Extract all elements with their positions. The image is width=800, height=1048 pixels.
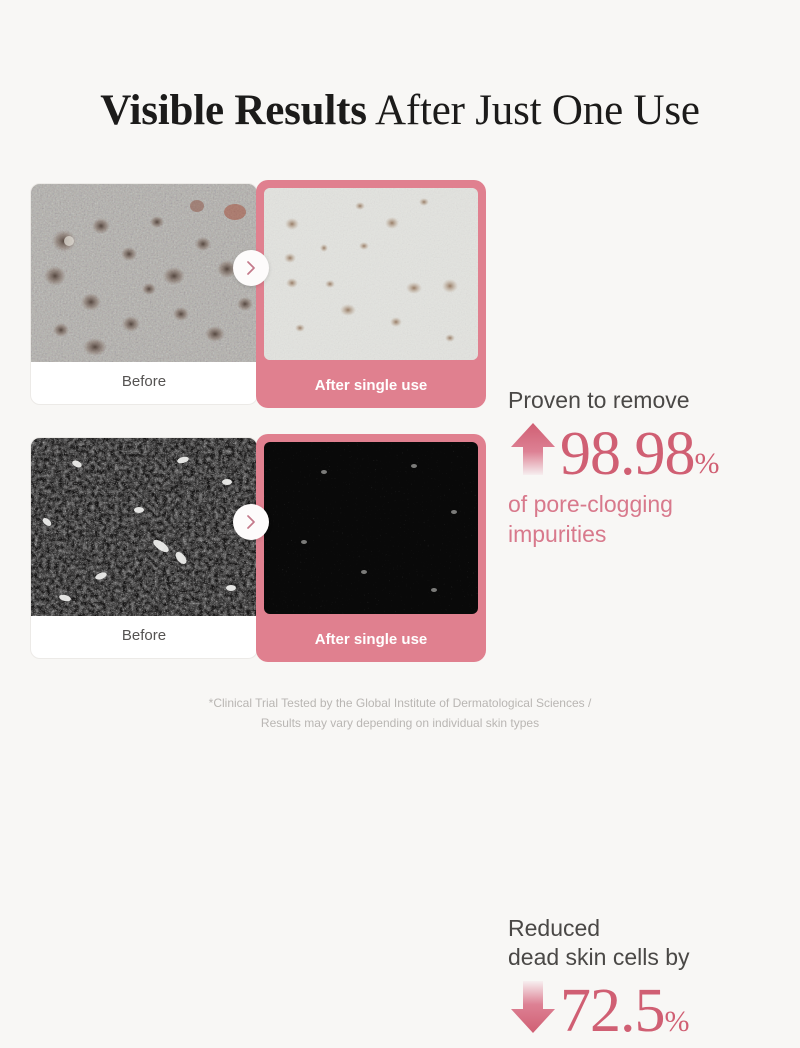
footnote-disclaimer: *Clinical Trial Tested by the Global Ins…	[0, 694, 800, 734]
stat-lead-text: Reduced dead skin cells by	[508, 914, 793, 973]
after-skin-image	[264, 188, 478, 360]
stat-lead-text: Proven to remove	[508, 386, 793, 415]
before-caption: Before	[31, 614, 257, 658]
before-caption: Before	[31, 360, 257, 404]
before-dead-skin-image	[31, 438, 257, 616]
after-caption: After single use	[256, 364, 486, 408]
before-after-pair: Before	[30, 434, 490, 664]
before-after-pair: Before	[30, 180, 490, 410]
after-caption: After single use	[256, 618, 486, 662]
page-title-emphasis: Visible Results	[100, 87, 367, 134]
before-skin-image	[31, 184, 257, 362]
comparison-row-dead-skin: Before	[0, 434, 800, 664]
stat-figure: 72.5 %	[508, 975, 793, 1042]
chevron-right-icon	[233, 250, 269, 286]
page-title: Visible Results After Just One Use	[0, 86, 800, 135]
page-title-rest: After Just One Use	[367, 87, 700, 134]
stat-unit: %	[665, 1007, 690, 1042]
after-card: After single use	[256, 434, 486, 662]
before-card: Before	[30, 183, 258, 405]
after-card: After single use	[256, 180, 486, 408]
arrow-down-icon	[508, 975, 558, 1042]
before-card: Before	[30, 437, 258, 659]
after-dead-skin-image	[264, 442, 478, 614]
chevron-right-icon	[233, 504, 269, 540]
stat-dead-skin: Reduced dead skin cells by 72.5 %	[508, 914, 793, 1048]
comparison-row-pores: Before	[0, 180, 800, 410]
stat-value: 72.5	[560, 981, 665, 1042]
